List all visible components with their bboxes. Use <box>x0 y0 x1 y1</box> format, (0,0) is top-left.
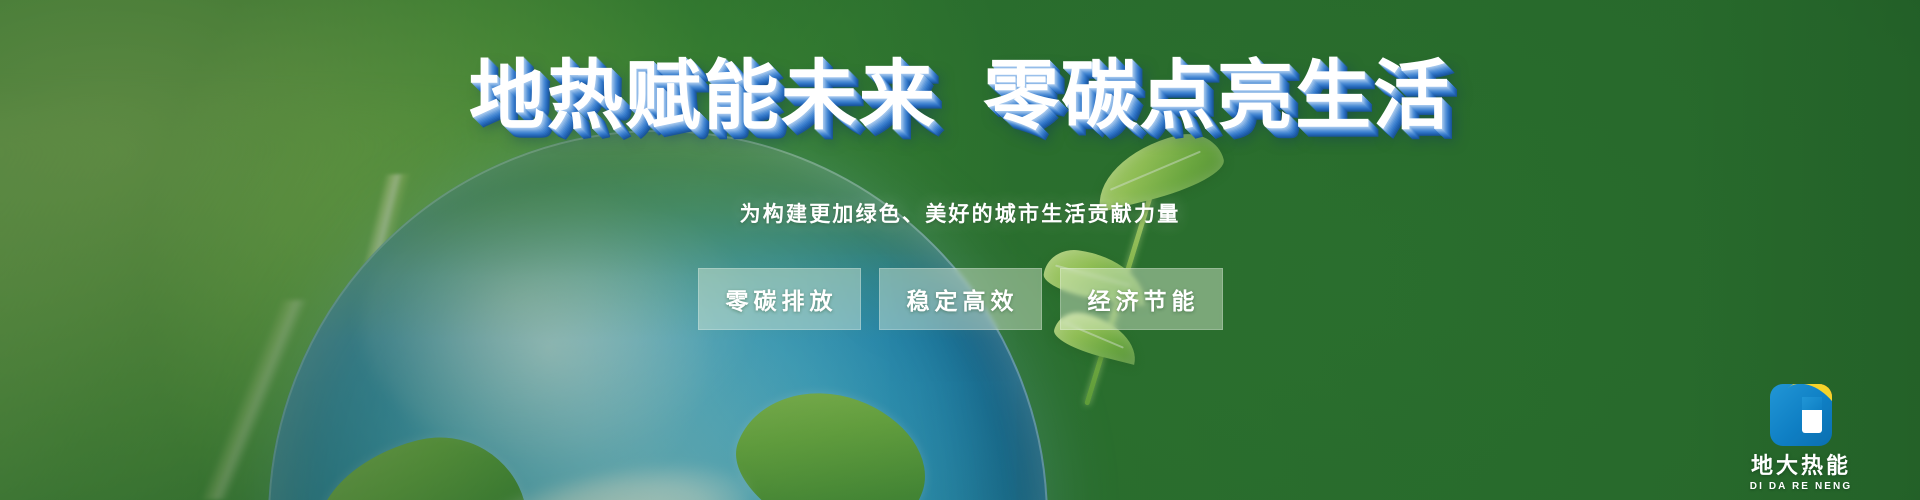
feature-tag-list: 零碳排放 稳定高效 经济节能 <box>0 268 1920 330</box>
hero-banner: 地热赋能未来 零碳点亮生活 为构建更加绿色、美好的城市生活贡献力量 零碳排放 稳… <box>0 0 1920 500</box>
company-logo[interactable]: 地大热能 DI DA RE NENG <box>1734 384 1868 492</box>
banner-headline: 地热赋能未来 零碳点亮生活 <box>0 56 1920 138</box>
logo-company-pinyin: DI DA RE NENG <box>1734 481 1868 492</box>
feature-tag-zero-carbon[interactable]: 零碳排放 <box>698 268 861 330</box>
feature-tag-stable-efficient[interactable]: 稳定高效 <box>879 268 1042 330</box>
logo-company-name: 地大热能 <box>1734 453 1868 478</box>
logo-mark-icon <box>1770 384 1832 446</box>
banner-subtitle: 为构建更加绿色、美好的城市生活贡献力量 <box>0 198 1920 228</box>
feature-tag-economical[interactable]: 经济节能 <box>1060 268 1223 330</box>
